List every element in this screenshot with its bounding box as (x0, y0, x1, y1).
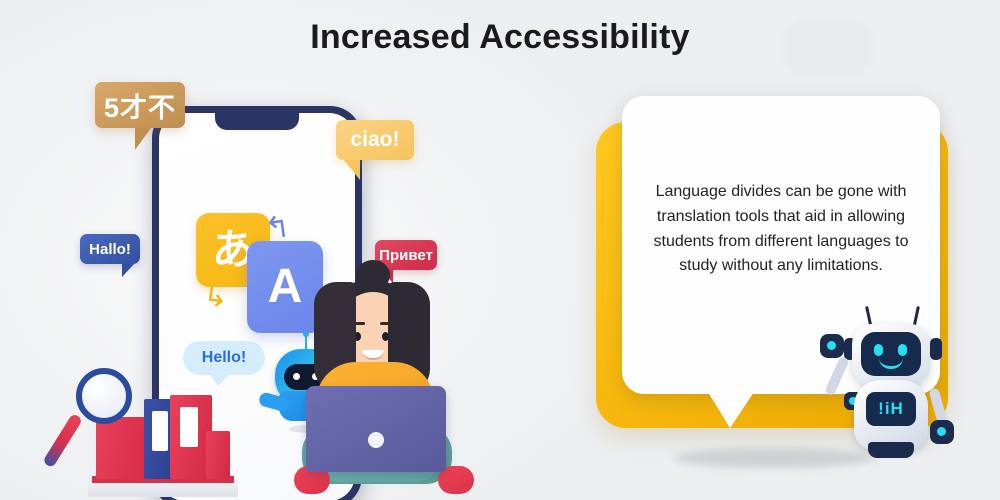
white-robot-hand-left (820, 334, 844, 358)
bubble-hallo-label: Hallo! (89, 241, 131, 258)
bubble-cjk-label: 5才不 (104, 86, 176, 125)
bubble-ciao: ciao! (336, 120, 414, 160)
bubble-hallo: Hallo! (80, 234, 140, 264)
white-robot-ear-right (930, 338, 942, 360)
bubble-ciao-tail (344, 160, 360, 180)
white-robot-base (868, 442, 914, 458)
white-robot-eye-left (874, 344, 883, 356)
message-panel: Language divides can be gone with transl… (588, 96, 960, 456)
bubble-cjk-tail (135, 128, 151, 150)
phone-notch (215, 113, 299, 130)
white-robot-arm-left (824, 356, 849, 397)
stacked-books (70, 352, 230, 497)
magnifying-glass-icon (76, 368, 132, 424)
page-title: Increased Accessibility (0, 18, 1000, 57)
white-robot-eye-right (898, 344, 907, 356)
translate-arrow-down-icon: ↳ (201, 279, 239, 317)
slide-canvas: Increased Accessibility あ ↰ ↳ A Hello! (0, 0, 1000, 500)
bubble-cjk: 5才不 (95, 82, 185, 128)
magnifier-handle (42, 413, 83, 469)
translation-accessibility-illustration: あ ↰ ↳ A Hello! (60, 62, 480, 492)
white-robot-chest-display: !iH (866, 392, 916, 426)
panel-ground-shadow (674, 448, 874, 468)
book-red-3 (206, 431, 230, 479)
laptop (306, 386, 446, 472)
panel-body-text: Language divides can be gone with transl… (646, 180, 916, 279)
white-robot-head (852, 324, 930, 386)
bubble-hallo-tail (122, 264, 134, 277)
student-with-laptop (288, 258, 480, 500)
white-robot-body: !iH (854, 380, 928, 450)
white-robot-hand-right (930, 420, 954, 444)
white-robot-face-screen (861, 332, 921, 376)
white-assistant-robot: !iH (818, 300, 968, 456)
white-robot-smile (879, 358, 903, 369)
bubble-ciao-label: ciao! (350, 128, 399, 152)
girl-smile (362, 350, 384, 360)
